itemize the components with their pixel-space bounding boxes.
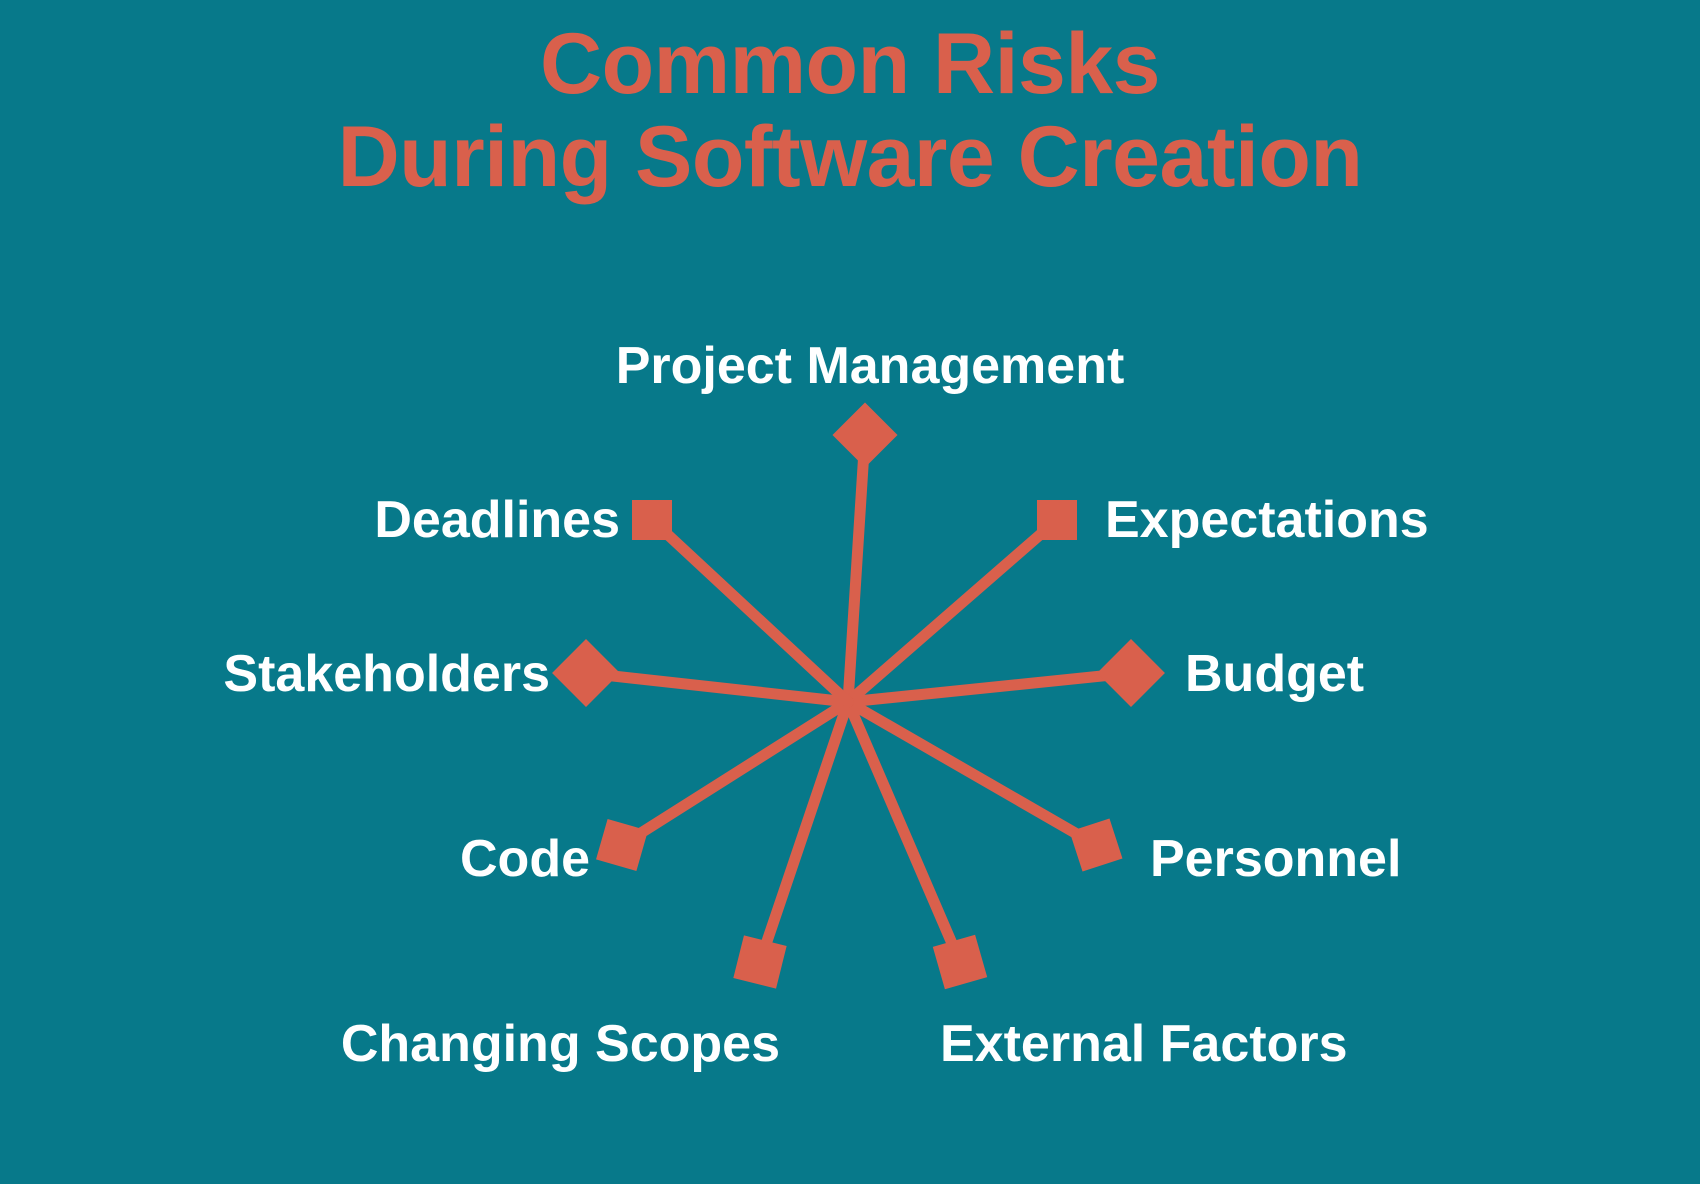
spoke-line-stakeholders	[586, 673, 848, 702]
spoke-line-changing-scopes	[760, 702, 848, 962]
node-marker-deadlines[interactable]	[632, 500, 672, 540]
spoke-line-project-management	[848, 435, 865, 702]
spoke-line-personnel	[848, 702, 1096, 845]
radial-risk-diagram: Project ManagementExpectationsBudgetPers…	[0, 0, 1700, 1184]
node-label-budget: Budget	[1185, 648, 1515, 700]
spoke-line-budget	[848, 673, 1131, 702]
spoke-line-external-factors	[848, 702, 960, 962]
node-marker-expectations[interactable]	[1037, 500, 1077, 540]
spoke-line-code	[622, 702, 848, 845]
node-label-deadlines: Deadlines	[260, 494, 620, 546]
node-label-changing-scopes: Changing Scopes	[240, 1018, 780, 1070]
spoke-line-expectations	[848, 520, 1057, 702]
node-label-code: Code	[330, 833, 590, 885]
node-label-external-factors: External Factors	[940, 1018, 1460, 1070]
spoke-line-deadlines	[652, 520, 848, 702]
node-label-expectations: Expectations	[1105, 494, 1525, 546]
node-label-stakeholders: Stakeholders	[130, 648, 550, 700]
node-label-personnel: Personnel	[1150, 833, 1530, 885]
spoke-lines	[0, 0, 1700, 1184]
node-label-project-management: Project Management	[560, 340, 1180, 392]
